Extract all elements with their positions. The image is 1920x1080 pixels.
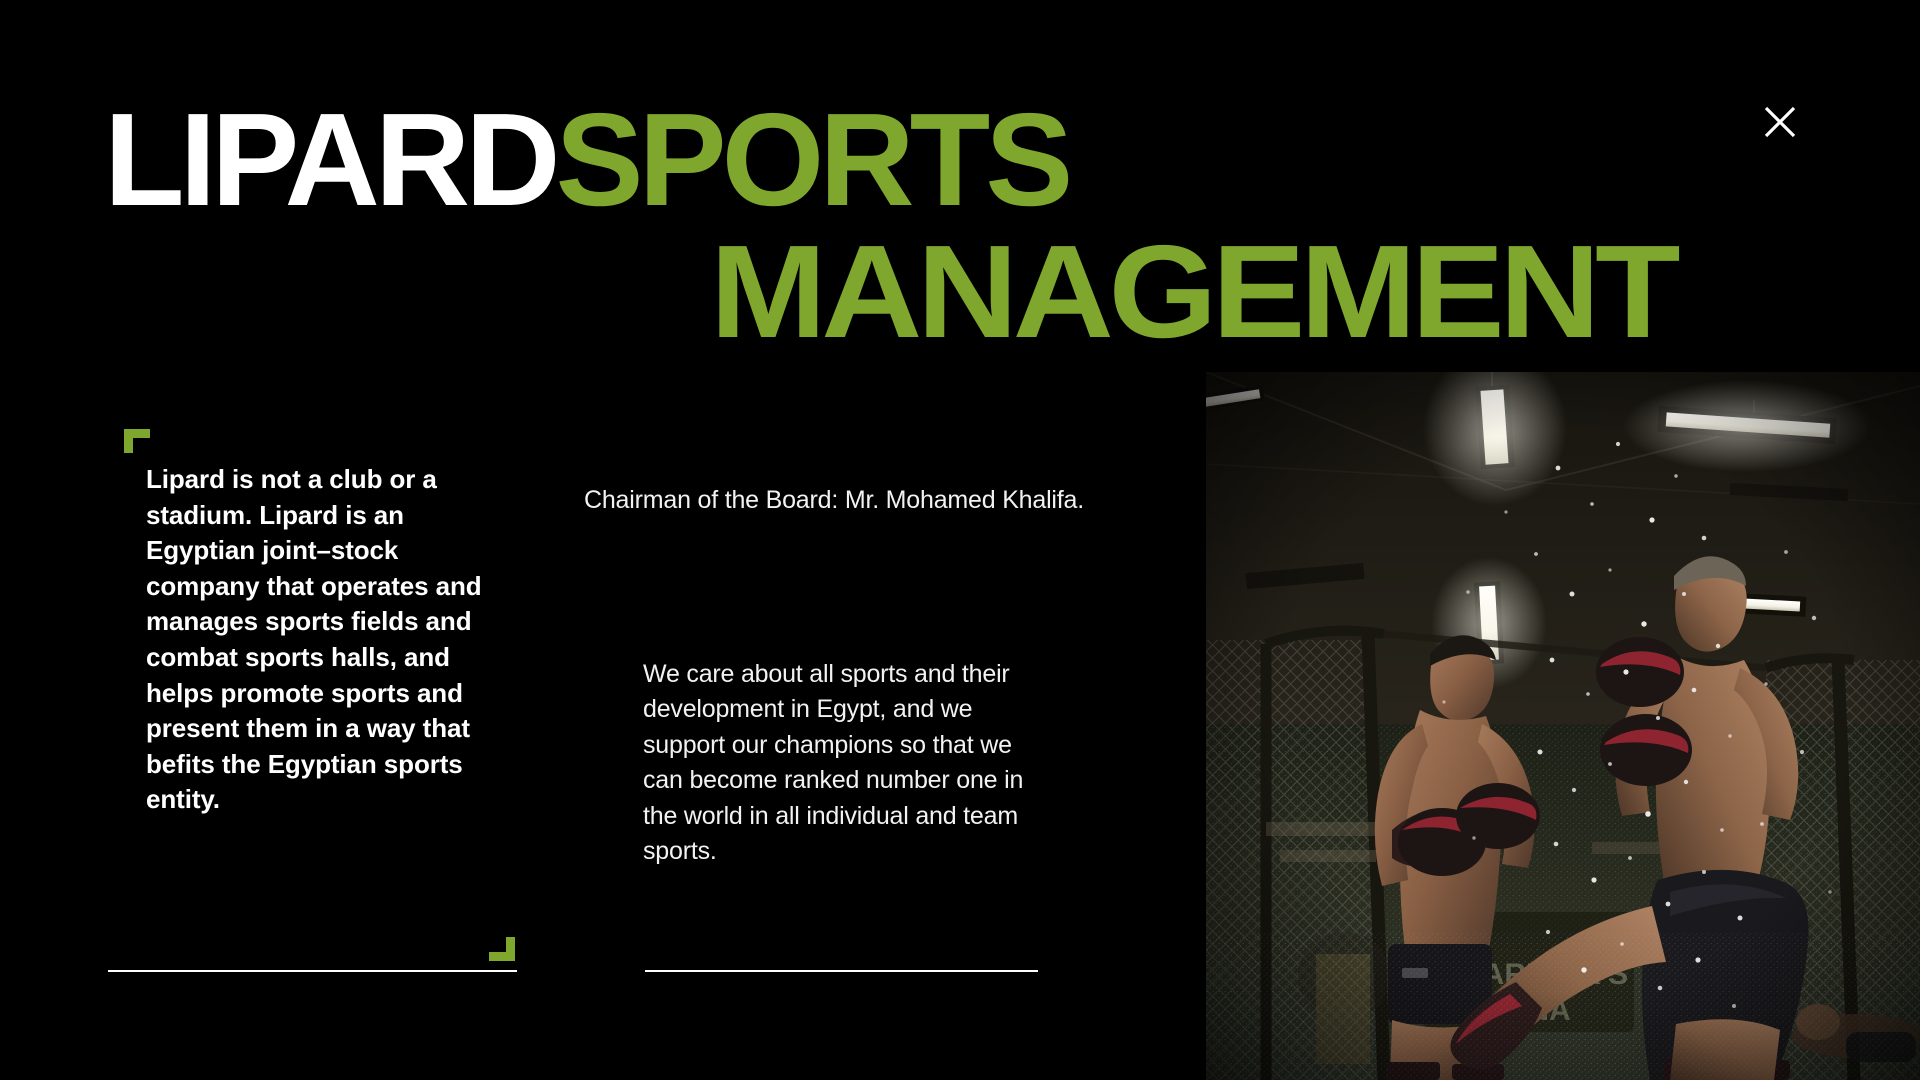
- chairman-line: Chairman of the Board: Mr. Mohamed Khali…: [584, 483, 1224, 517]
- primary-column-divider: [108, 970, 517, 972]
- primary-paragraph: Lipard is not a club or a stadium. Lipar…: [146, 462, 486, 818]
- hero-heading: LIPARDSPORTS MANAGEMENT: [0, 0, 1920, 370]
- bracket-vertical-arm: [506, 937, 515, 961]
- corner-bracket-bottom-right: [489, 937, 515, 961]
- bracket-vertical-arm: [124, 429, 133, 453]
- close-button[interactable]: [1748, 90, 1812, 154]
- accent-word-sports: SPORTS: [556, 86, 1069, 233]
- brand-word: LIPARD: [104, 86, 556, 233]
- secondary-paragraph: We care about all sports and their devel…: [643, 657, 1043, 869]
- primary-text-column: Lipard is not a club or a stadium. Lipar…: [146, 462, 486, 818]
- fighters-photo: WARRIOR'S ARENA: [1206, 372, 1920, 1080]
- hero-heading-line-1: LIPARDSPORTS: [104, 94, 1068, 226]
- accent-word-management: MANAGEMENT: [710, 226, 1675, 358]
- slide-root: LIPARDSPORTS MANAGEMENT: [0, 0, 1920, 1080]
- secondary-column-divider: [645, 970, 1038, 972]
- secondary-text-column: We care about all sports and their devel…: [643, 657, 1043, 869]
- close-icon: [1763, 105, 1797, 139]
- corner-bracket-top-left: [124, 429, 150, 453]
